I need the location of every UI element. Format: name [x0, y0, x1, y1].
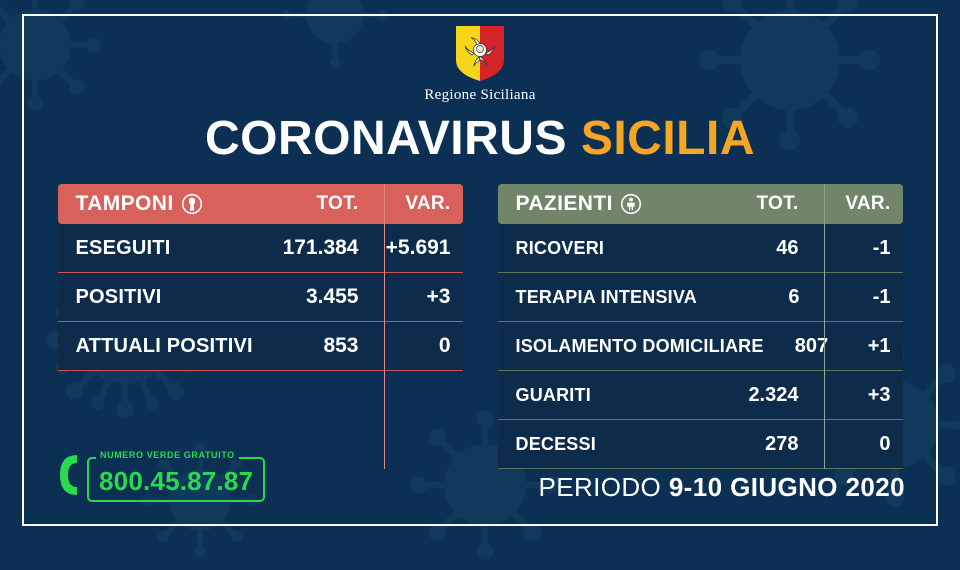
- row-separator: [58, 370, 463, 371]
- row-label: ISOLAMENTO DOMICILIARE: [516, 336, 764, 357]
- page-title: CORONAVIRUS SICILIA: [0, 115, 960, 163]
- table-pazienti: PAZIENTI TOT. VAR. RICOVERI 46 -1 TER: [498, 184, 903, 469]
- table-body-pazienti: RICOVERI 46 -1 TERAPIA INTENSIVA 6 -1 IS…: [498, 224, 903, 469]
- table-row: ISOLAMENTO DOMICILIARE 807 +1: [498, 322, 903, 370]
- table-row: RICOVERI 46 -1: [498, 224, 903, 272]
- row-separator: [498, 468, 903, 469]
- period-prefix: PERIODO: [538, 472, 661, 502]
- table-header-pazienti: PAZIENTI TOT. VAR.: [498, 184, 903, 224]
- row-label: DECESSI: [516, 434, 596, 455]
- region-name-label: Regione Siciliana: [424, 87, 535, 104]
- table-title: TAMPONI: [76, 192, 174, 216]
- row-total: 2.324: [695, 384, 813, 407]
- row-total: 807: [764, 335, 843, 358]
- row-label: GUARITI: [516, 385, 591, 406]
- hotline-frame: 800.45.87.87: [87, 457, 265, 502]
- row-total: 853: [255, 334, 373, 358]
- table-tamponi: TAMPONI TOT. VAR. ESEGUITI 171.384 +5.69…: [58, 184, 463, 469]
- table-header-tamponi: TAMPONI TOT. VAR.: [58, 184, 463, 224]
- row-total: 46: [695, 237, 813, 260]
- column-divider: [824, 184, 825, 469]
- statistics-tables: TAMPONI TOT. VAR. ESEGUITI 171.384 +5.69…: [0, 184, 960, 469]
- table-row: ESEGUITI 171.384 +5.691: [58, 224, 463, 272]
- column-divider: [384, 184, 385, 469]
- hotline-label: NUMERO VERDE GRATUITO: [96, 450, 239, 460]
- table-row: ATTUALI POSITIVI 853 0: [58, 322, 463, 370]
- row-total: 171.384: [255, 236, 373, 260]
- column-header-tot: TOT.: [695, 193, 813, 215]
- title-main: CORONAVIRUS: [205, 112, 567, 165]
- row-total: 3.455: [255, 285, 373, 309]
- table-row: POSITIVI 3.455 +3: [58, 273, 463, 321]
- hotline-block: NUMERO VERDE GRATUITO 800.45.87.87: [56, 452, 265, 502]
- trinacria-coat-of-arms-icon: [454, 24, 506, 82]
- row-label: TERAPIA INTENSIVA: [516, 287, 697, 308]
- table-row: DECESSI 278 0: [498, 420, 903, 468]
- swab-icon: [181, 193, 203, 215]
- table-body-tamponi: ESEGUITI 171.384 +5.691 POSITIVI 3.455 +…: [58, 224, 463, 371]
- table-title: PAZIENTI: [516, 192, 613, 216]
- row-total: 6: [697, 286, 814, 309]
- table-row: TERAPIA INTENSIVA 6 -1: [498, 273, 903, 321]
- person-icon: [620, 193, 642, 215]
- period-label: PERIODO 9-10 GIUGNO 2020: [538, 472, 905, 503]
- row-total: 278: [695, 433, 813, 456]
- row-label: RICOVERI: [516, 238, 605, 259]
- period-range: 9-10 GIUGNO 2020: [669, 472, 905, 502]
- table-row: GUARITI 2.324 +3: [498, 371, 903, 419]
- row-label: ESEGUITI: [76, 237, 171, 260]
- column-header-tot: TOT.: [255, 193, 373, 215]
- title-accent: SICILIA: [581, 112, 755, 165]
- row-label: ATTUALI POSITIVI: [76, 335, 253, 358]
- row-variation: -1: [814, 286, 891, 309]
- phone-icon: [56, 453, 82, 502]
- hotline-box: NUMERO VERDE GRATUITO 800.45.87.87: [87, 452, 265, 502]
- region-branding: Regione Siciliana: [0, 24, 960, 104]
- hotline-number[interactable]: 800.45.87.87: [99, 466, 253, 496]
- row-variation: +1: [842, 335, 890, 358]
- row-label: POSITIVI: [76, 286, 162, 309]
